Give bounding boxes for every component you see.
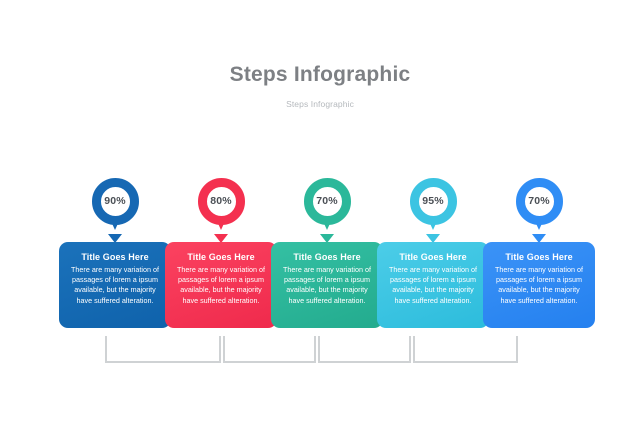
map-pin-icon-5: 70%: [516, 178, 563, 236]
card-body-1: There are many variation of passages of …: [66, 265, 164, 306]
pin-percent-4: 95%: [410, 178, 457, 225]
step-item-2[interactable]: 80% Title Goes Here There are many varia…: [165, 178, 277, 328]
pin-percent-3: 70%: [304, 178, 351, 225]
bracket-connector-icon-2: [223, 336, 316, 363]
map-pin-icon-3: 70%: [304, 178, 351, 236]
card-title-4: Title Goes Here: [384, 251, 482, 263]
bracket-connector-icon-3: [318, 336, 411, 363]
step-item-5[interactable]: 70% Title Goes Here There are many varia…: [483, 178, 595, 328]
card-body-3: There are many variation of passages of …: [278, 265, 376, 306]
infographic-canvas: Steps Infographic Steps Infographic 90% …: [0, 0, 640, 443]
step-item-3[interactable]: 70% Title Goes Here There are many varia…: [271, 178, 383, 328]
pin-percent-5: 70%: [516, 178, 563, 225]
step-card-3[interactable]: Title Goes Here There are many variation…: [271, 242, 383, 328]
card-body-2: There are many variation of passages of …: [172, 265, 270, 306]
page-title: Steps Infographic: [0, 62, 640, 88]
steps-row: 90% Title Goes Here There are many varia…: [0, 178, 640, 338]
step-item-1[interactable]: 90% Title Goes Here There are many varia…: [59, 178, 171, 328]
step-card-1[interactable]: Title Goes Here There are many variation…: [59, 242, 171, 328]
step-card-2[interactable]: Title Goes Here There are many variation…: [165, 242, 277, 328]
step-card-5[interactable]: Title Goes Here There are many variation…: [483, 242, 595, 328]
card-title-3: Title Goes Here: [278, 251, 376, 263]
card-body-5: There are many variation of passages of …: [490, 265, 588, 306]
step-item-4[interactable]: 95% Title Goes Here There are many varia…: [377, 178, 489, 328]
map-pin-icon-1: 90%: [92, 178, 139, 236]
bracket-connector-icon-1: [105, 336, 221, 363]
page-subtitle: Steps Infographic: [0, 99, 640, 110]
pin-percent-2: 80%: [198, 178, 245, 225]
map-pin-icon-4: 95%: [410, 178, 457, 236]
header: Steps Infographic Steps Infographic: [0, 62, 640, 110]
card-title-1: Title Goes Here: [66, 251, 164, 263]
bracket-connector-icon-4: [413, 336, 518, 363]
step-card-4[interactable]: Title Goes Here There are many variation…: [377, 242, 489, 328]
pin-percent-1: 90%: [92, 178, 139, 225]
bracket-connectors: [0, 336, 640, 376]
card-body-4: There are many variation of passages of …: [384, 265, 482, 306]
card-title-2: Title Goes Here: [172, 251, 270, 263]
map-pin-icon-2: 80%: [198, 178, 245, 236]
card-title-5: Title Goes Here: [490, 251, 588, 263]
